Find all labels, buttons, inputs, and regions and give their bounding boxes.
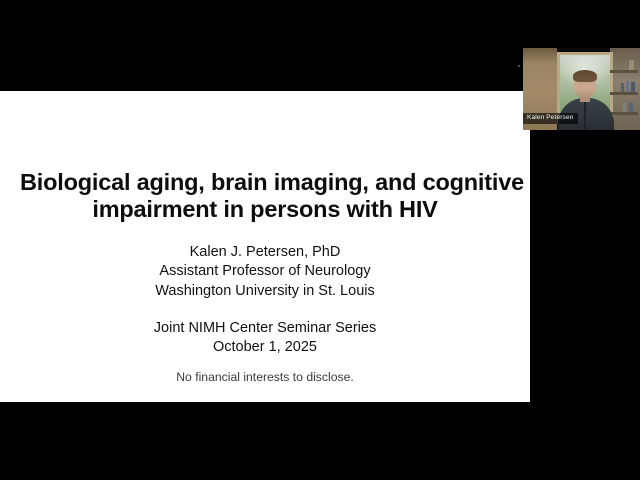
event-series-name: Joint NIMH Center Seminar Series <box>20 319 510 338</box>
presenter-name-label: Kalen Petersen <box>523 113 578 125</box>
disclosure-block: No financial interests to disclose. <box>20 369 510 385</box>
presenter-indicator-dot <box>518 65 520 67</box>
bookshelf-item <box>629 102 633 112</box>
slide-content: Biological aging, brain imaging, and cog… <box>0 91 530 402</box>
bookshelf-item <box>623 62 627 70</box>
presentation-slide: Biological aging, brain imaging, and cog… <box>0 91 530 402</box>
bookshelf-item <box>623 103 626 112</box>
speaker-title: Assistant Professor of Neurology <box>20 262 510 281</box>
video-background-wall-right <box>610 48 640 130</box>
bookshelf-board <box>610 92 638 95</box>
presenter-shirt-placket <box>584 102 586 130</box>
bookshelf-board <box>610 70 638 73</box>
bookshelf-item <box>621 83 624 92</box>
bookshelf-item <box>629 60 634 70</box>
slide-title-line-2: impairment in persons with HIV <box>20 196 510 223</box>
speaker-institution: Washington University in St. Louis <box>20 282 510 301</box>
bookshelf-board <box>610 112 638 115</box>
bookshelf-item <box>626 81 629 92</box>
speaker-name: Kalen J. Petersen, PhD <box>20 243 510 262</box>
presenter-video-tile[interactable]: Kalen Petersen <box>523 48 640 130</box>
slide-title: Biological aging, brain imaging, and cog… <box>20 169 510 223</box>
bookshelf-item <box>631 82 635 92</box>
presenter-hair <box>573 70 597 82</box>
slide-title-line-1: Biological aging, brain imaging, and cog… <box>20 169 510 196</box>
video-player-screen: Biological aging, brain imaging, and cog… <box>0 0 640 480</box>
speaker-affiliation-block: Kalen J. Petersen, PhD Assistant Profess… <box>20 243 510 301</box>
disclosure-statement: No financial interests to disclose. <box>20 369 510 385</box>
event-date: October 1, 2025 <box>20 338 510 357</box>
event-block: Joint NIMH Center Seminar Series October… <box>20 319 510 358</box>
